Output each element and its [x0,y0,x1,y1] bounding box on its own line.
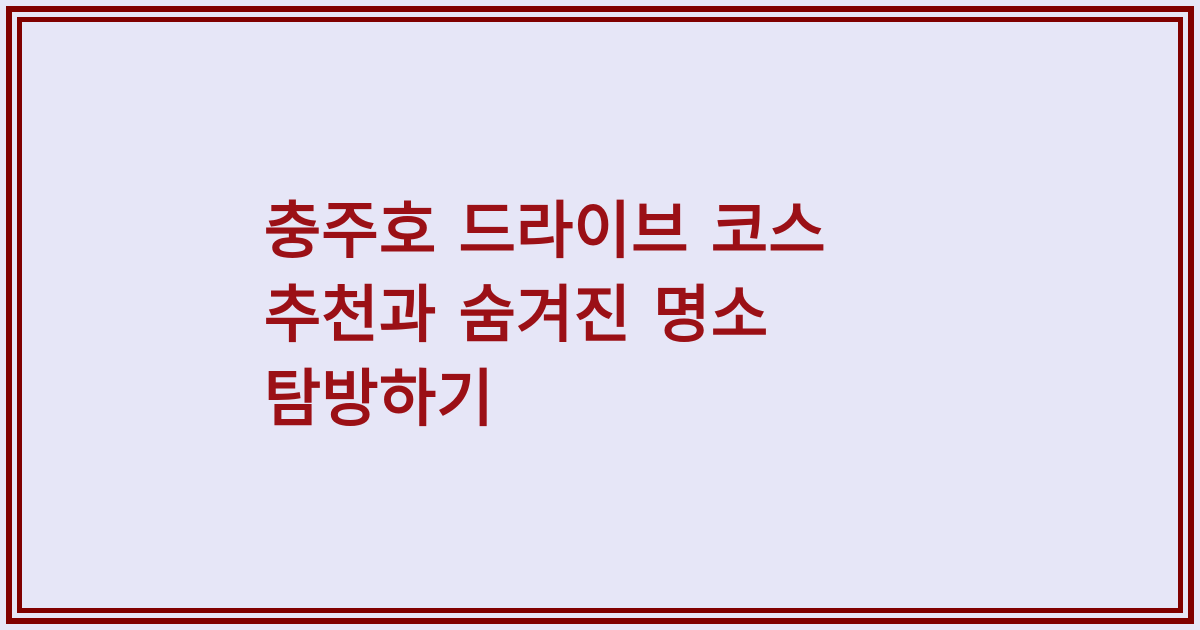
page-title: 충주호 드라이브 코스 추천과 숨겨진 명소 탐방하기 [264,189,936,441]
title-container: 충주호 드라이브 코스 추천과 숨겨진 명소 탐방하기 [0,0,1200,630]
thumbnail-card: 충주호 드라이브 코스 추천과 숨겨진 명소 탐방하기 [0,0,1200,630]
title-text-block: 충주호 드라이브 코스 추천과 숨겨진 명소 탐방하기 [264,189,936,441]
